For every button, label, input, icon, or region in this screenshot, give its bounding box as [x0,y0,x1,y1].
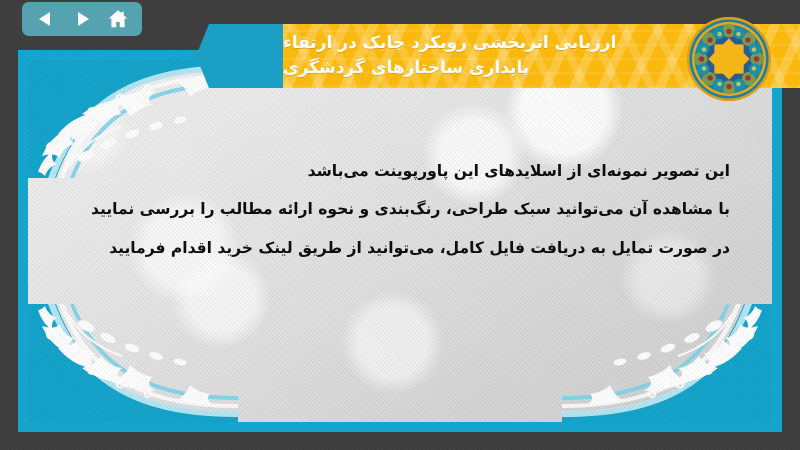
page-title-line-1: ارزیابی اثربخشی رویکرد چابک در ارتقاء [283,31,616,57]
slide-frame: این تصویر نمونه‌ای از اسلایدهای این پاور… [18,50,782,432]
slide-content-panel: این تصویر نمونه‌ای از اسلایدهای این پاور… [28,60,772,422]
presentation-slide: این تصویر نمونه‌ای از اسلایدهای این پاور… [0,0,800,450]
slide-topbar: ارزیابی اثربخشی رویکرد چابک در ارتقاء پا… [0,0,800,50]
persian-medallion-icon [686,16,772,102]
banner-left-edge [265,24,284,88]
arabesque-corner-icon [28,304,238,422]
navigation-controls [22,2,142,36]
body-line-1: این تصویر نمونه‌ای از اسلایدهای این پاور… [70,152,730,190]
slide-body-text: این تصویر نمونه‌ای از اسلایدهای این پاور… [70,152,730,267]
page-title-line-2: پایداری ساختارهای گردشگری [283,56,529,82]
home-button[interactable] [105,6,131,32]
arabesque-corner-icon [562,304,772,422]
banner-arrow-connector [196,24,268,88]
next-button[interactable] [69,6,95,32]
previous-button[interactable] [33,6,59,32]
body-line-2: با مشاهده آن می‌توانید سبک طراحی، رنگ‌بن… [70,190,730,228]
body-line-3: در صورت تمایل به دریافت فایل کامل، می‌تو… [70,229,730,267]
